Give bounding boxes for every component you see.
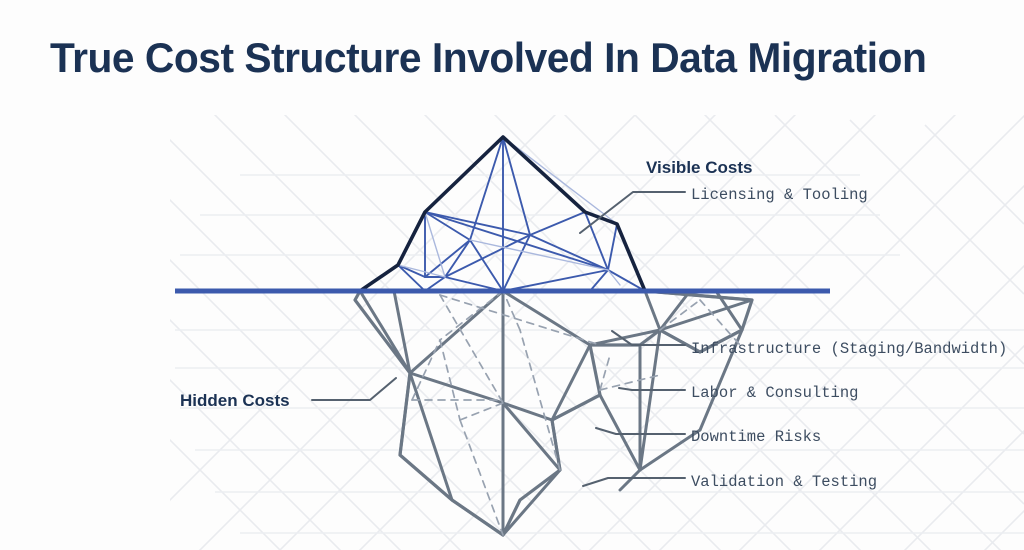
- cost-item-validation-and-testing: Validation & Testing: [691, 473, 877, 491]
- cost-item-infrastructure: Infrastructure (Staging/Bandwidth): [691, 340, 1007, 358]
- iceberg-above-water-facets: [398, 137, 645, 291]
- leader-line-validation: [583, 478, 685, 486]
- page-title: True Cost Structure Involved In Data Mig…: [50, 34, 926, 82]
- diagram-canvas: True Cost Structure Involved In Data Mig…: [0, 0, 1024, 550]
- visible-costs-heading: Visible Costs: [646, 158, 752, 178]
- hidden-costs-heading: Hidden Costs: [180, 391, 290, 411]
- background-grid: [130, 110, 1024, 550]
- cost-item-licensing-and-tooling: Licensing & Tooling: [691, 186, 868, 204]
- iceberg-illustration: [0, 0, 1024, 550]
- cost-item-downtime-risks: Downtime Risks: [691, 428, 821, 446]
- iceberg-below-water: [355, 291, 752, 535]
- cost-item-labor-and-consulting: Labor & Consulting: [691, 384, 858, 402]
